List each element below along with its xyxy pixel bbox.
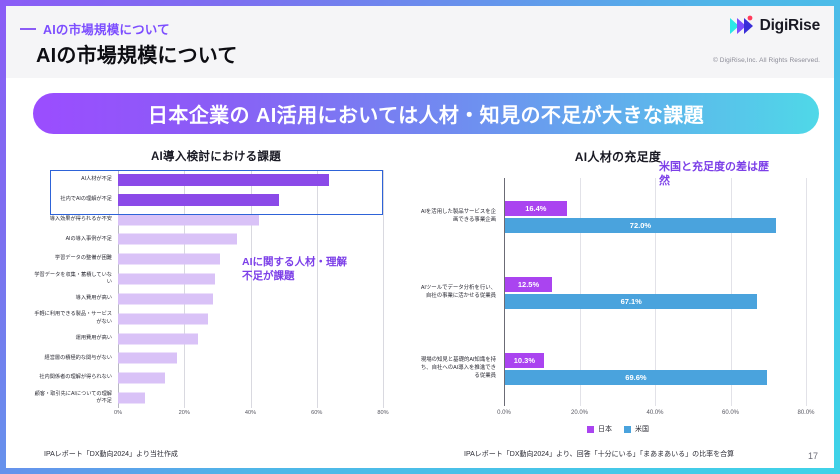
headline-banner-text: 日本企業の AI活用においては人材・知見の不足が大きな課題 [148, 99, 704, 128]
page-title: AIの市場規模について [36, 39, 238, 68]
axis-tick-label: 60% [311, 410, 322, 416]
footnote-right: IPAレポート「DX動向2024」より、回答「十分にいる」「まあまあいる」の比率… [464, 449, 734, 459]
chart-bar-row: 顧客・取引先にAIについての理解が不足 [30, 388, 383, 408]
bar [118, 293, 213, 304]
legend-label: 米国 [635, 424, 649, 434]
bar-value-label: 12.5% [505, 280, 552, 289]
right-chart-plot: AIを活用した製品サービスを企画できる事業企画16.4%72.0%AIツールでデ… [416, 178, 820, 406]
bar-track [115, 309, 383, 329]
bar-category-label: AIツールでデータ分析を行い、自社の事業に活かせる従業員 [416, 284, 500, 300]
slide-frame: AIの市場規模について AIの市場規模について DigiRise © DigiR… [0, 0, 840, 474]
headline-banner: 日本企業の AI活用においては人材・知見の不足が大きな課題 [33, 93, 819, 134]
chart-bar-row: AIの導入事例が不足 [30, 230, 383, 250]
copyright-text: © DigiRise,Inc. All Rights Reserved. [713, 57, 820, 64]
legend-item: 日本 [587, 424, 612, 434]
right-chart-x-axis: 0.0%20.0%40.0%60.0%80.0% [504, 410, 806, 422]
bar-category-label: 運用費用が高い [30, 335, 115, 343]
bar-track [115, 329, 383, 349]
bar [118, 254, 220, 265]
slide-header: AIの市場規模について AIの市場規模について DigiRise © DigiR… [6, 6, 834, 78]
bar-category-label: 導入費用が高い [30, 295, 115, 303]
bar-track [115, 368, 383, 388]
page-number: 17 [808, 451, 818, 461]
chart-bar-row: 運用費用が高い [30, 329, 383, 349]
chart-bar-group: 現場の知見と基礎的AI知識を持ち、自社へのAI導入を推進できる従業員10.3%6… [416, 330, 806, 406]
legend-label: 日本 [598, 424, 612, 434]
right-chart-panel: AI人材の充足度 AIを活用した製品サービスを企画できる事業企画16.4%72.… [416, 148, 820, 438]
left-chart-title: AI導入検討における課題 [30, 148, 402, 164]
bar-category-label: 顧客・取引先にAIについての理解が不足 [30, 391, 115, 406]
bar-category-label: 学習データの整備が困難 [30, 255, 115, 263]
bar-value-label: 67.1% [505, 297, 757, 306]
slide-inner: AIの市場規模について AIの市場規模について DigiRise © DigiR… [6, 6, 834, 468]
bar-value-label: 16.4% [505, 204, 567, 213]
bar-category-label: AIの導入事例が不足 [30, 236, 115, 244]
bar: 72.0% [505, 218, 776, 233]
bar-category-label: 手軽に利用できる製品・サービスがない [30, 311, 115, 326]
bar-value-label: 69.6% [505, 373, 767, 382]
legend-swatch [624, 426, 631, 433]
bar [118, 373, 165, 384]
right-chart-annotation: 米国と充足度の差は歴然 [659, 160, 779, 189]
axis-tick-label: 40.0% [646, 410, 663, 416]
left-chart-x-axis: 0%20%40%60%80% [118, 410, 383, 422]
axis-tick-label: 80.0% [797, 410, 814, 416]
axis-tick-label: 20.0% [571, 410, 588, 416]
header-kicker: AIの市場規模について [43, 19, 170, 38]
left-chart-plot: AI人材が不足社内でAIの理解が不足導入効果が得られるか不安AIの導入事例が不足… [30, 170, 402, 408]
bar: 10.3% [505, 353, 544, 368]
bar-track: 16.4%72.0% [505, 200, 806, 233]
bar [118, 214, 259, 225]
axis-tick-label: 20% [179, 410, 190, 416]
right-chart-legend: 日本米国 [416, 424, 820, 434]
left-chart-annotation: AIに関する人材・理解不足が課題 [242, 256, 347, 284]
bar: 16.4% [505, 201, 567, 216]
bar-track [115, 349, 383, 369]
bar-track [115, 388, 383, 408]
bar-track [115, 289, 383, 309]
axis-tick-label: 80% [377, 410, 388, 416]
digirise-chevron-icon [729, 15, 755, 37]
bar: 69.6% [505, 370, 767, 385]
axis-tick-label: 0.0% [497, 410, 511, 416]
header-dash-icon [20, 28, 36, 30]
chart-bar-row: 経営層の積極的な関与がない [30, 349, 383, 369]
bar: 12.5% [505, 277, 552, 292]
bar-track: 12.5%67.1% [505, 276, 806, 309]
gridline [806, 178, 807, 406]
bar [118, 333, 198, 344]
chart-bar-row: 社内関係者の理解が得られない [30, 368, 383, 388]
bar [118, 234, 237, 245]
left-chart-panel: AI導入検討における課題 AI人材が不足社内でAIの理解が不足導入効果が得られる… [30, 148, 402, 438]
logo-text: DigiRise [760, 17, 820, 35]
legend-item: 米国 [624, 424, 649, 434]
left-chart-highlight-box [50, 170, 383, 215]
axis-tick-label: 40% [245, 410, 256, 416]
chart-bar-group: AIツールでデータ分析を行い、自社の事業に活かせる従業員12.5%67.1% [416, 254, 806, 330]
bar-value-label: 72.0% [505, 221, 776, 230]
bar-category-label: 経営層の積極的な関与がない [30, 355, 115, 363]
bar [118, 393, 145, 404]
bar-category-label: 導入効果が得られるか不安 [30, 216, 115, 224]
chart-bar-row: 手軽に利用できる製品・サービスがない [30, 309, 383, 329]
bar-category-label: 現場の知見と基礎的AI知識を持ち、自社へのAI導入を推進できる従業員 [416, 356, 500, 380]
bar: 67.1% [505, 294, 757, 309]
axis-tick-label: 0% [114, 410, 122, 416]
bar [118, 313, 208, 324]
chart-bar-row: 導入費用が高い [30, 289, 383, 309]
brand-logo: DigiRise [729, 15, 820, 37]
bar-track: 10.3%69.6% [505, 352, 806, 385]
bar [118, 353, 177, 364]
bar-category-label: 学習データを収集・蓄積していない [30, 272, 115, 287]
bar-category-label: 社内関係者の理解が得られない [30, 374, 115, 382]
chart-bar-group: AIを活用した製品サービスを企画できる事業企画16.4%72.0% [416, 178, 806, 254]
footnote-left: IPAレポート「DX動向2024」より当社作成 [44, 449, 178, 459]
bar-category-label: AIを活用した製品サービスを企画できる事業企画 [416, 208, 500, 224]
axis-tick-label: 60.0% [722, 410, 739, 416]
legend-swatch [587, 426, 594, 433]
bar [118, 274, 215, 285]
bar-track [115, 230, 383, 250]
bar-value-label: 10.3% [505, 356, 544, 365]
